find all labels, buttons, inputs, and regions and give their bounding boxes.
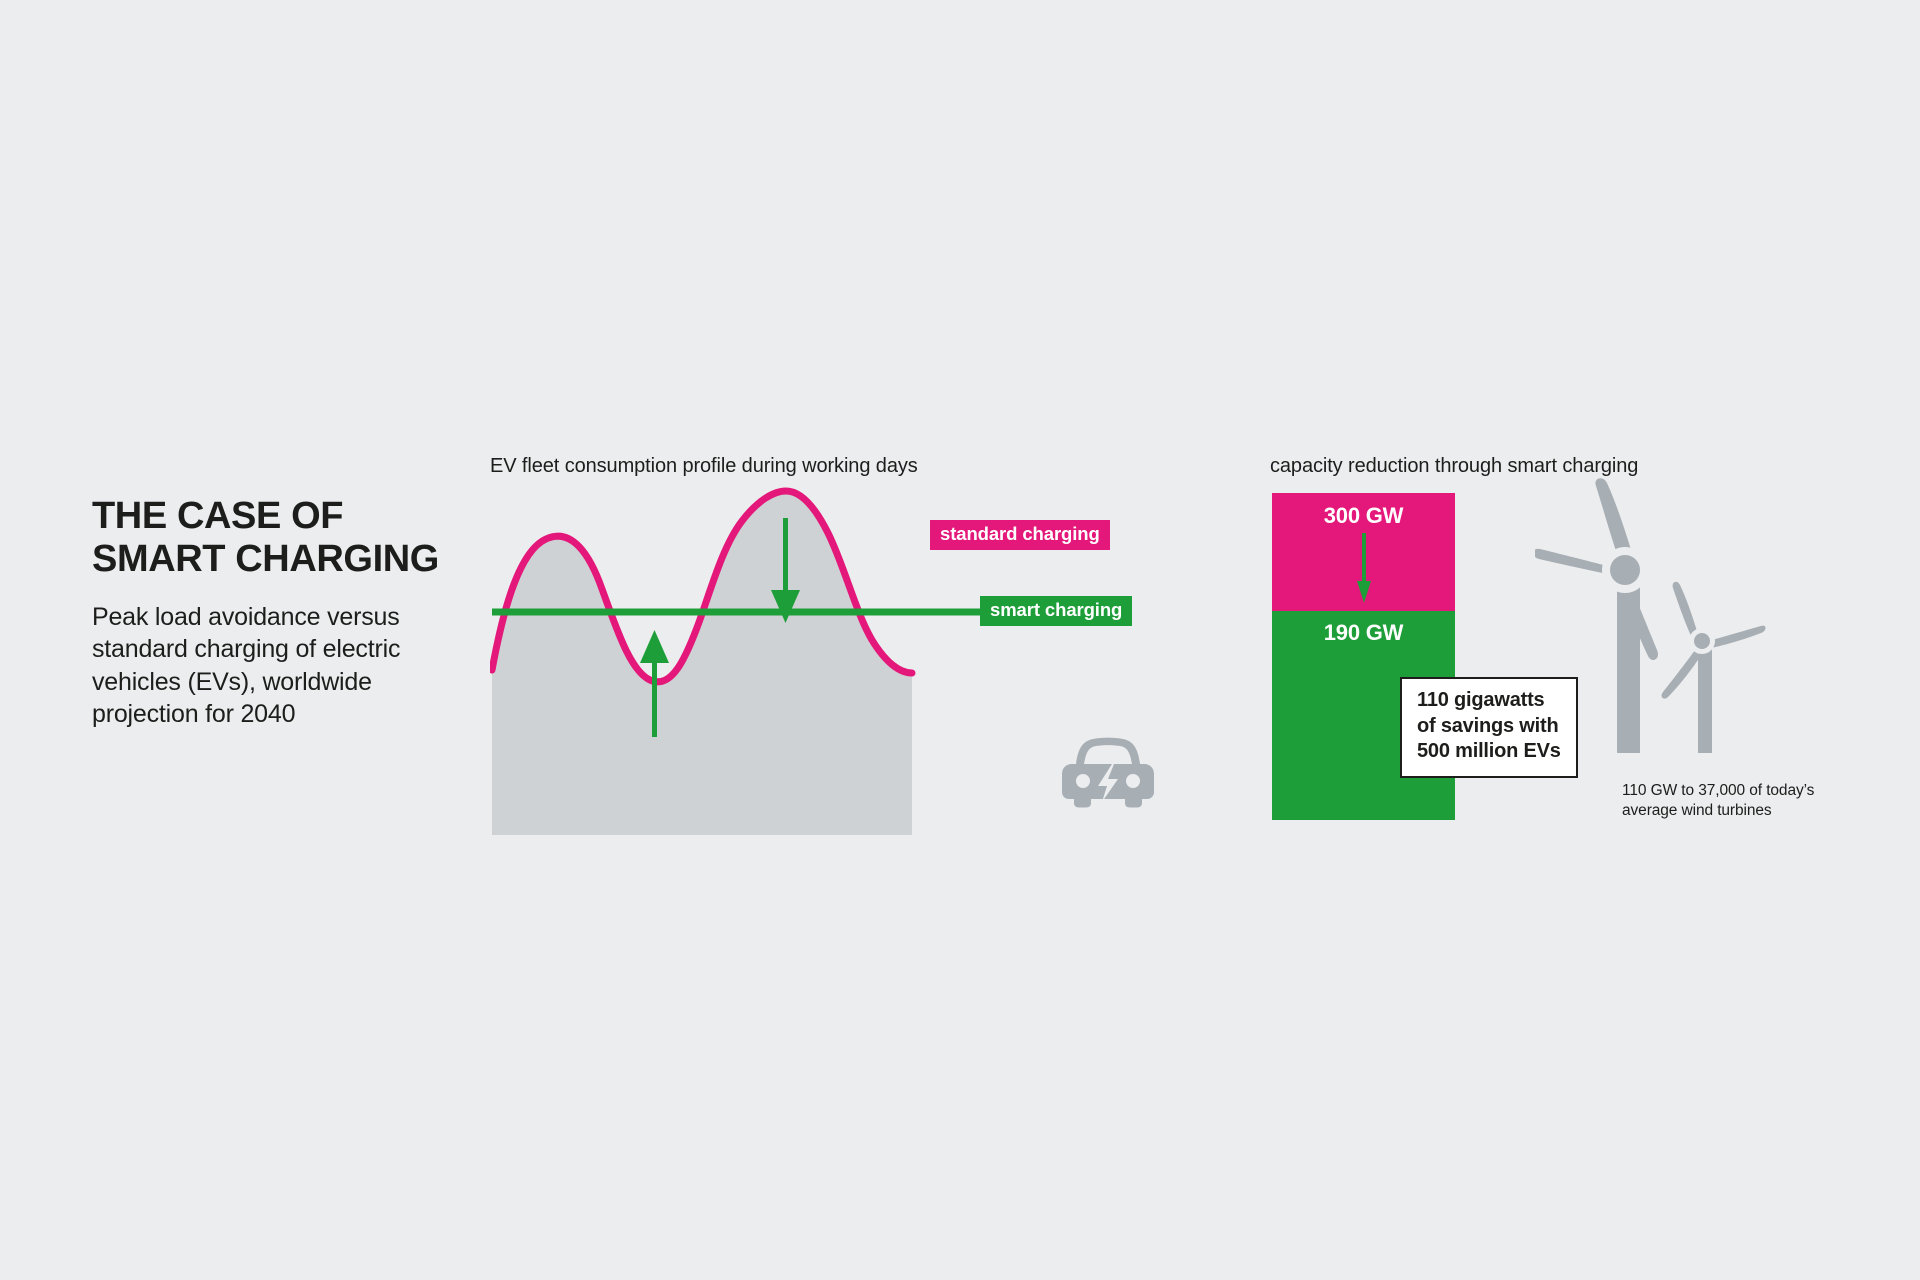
curve-chart-title: EV fleet consumption profile during work… <box>490 455 918 478</box>
subtitle-line-4: projection for 2040 <box>92 698 462 731</box>
turbine-caption-line-1: 110 GW to 37,000 of today’s <box>1622 781 1814 801</box>
page-title: THE CASE OF SMART CHARGING <box>92 495 462 582</box>
turbine-caption-line-2: average wind turbines <box>1622 801 1814 821</box>
car-windshield <box>1084 745 1132 764</box>
title-line-1: THE CASE OF <box>92 495 462 538</box>
car-headlight-left <box>1076 774 1090 788</box>
bar-chart-title: capacity reduction through smart chargin… <box>1270 455 1638 478</box>
capacity-bar-panel: capacity reduction through smart chargin… <box>1270 455 1890 845</box>
electric-car-icon <box>1056 736 1160 808</box>
down-arrow-icon <box>1357 533 1371 605</box>
consumption-area-fill <box>492 491 912 835</box>
curve-chart-panel: EV fleet consumption profile during work… <box>490 455 1170 835</box>
wind-turbine-icon <box>1535 478 1795 768</box>
subtitle-line-1: Peak load avoidance versus <box>92 601 462 634</box>
turbine-caption: 110 GW to 37,000 of today’s average wind… <box>1622 781 1814 822</box>
legend-standard-charging[interactable]: standard charging <box>930 520 1110 550</box>
infographic-canvas: THE CASE OF SMART CHARGING Peak load avo… <box>0 0 1920 1280</box>
bar-label-300gw: 300 GW <box>1272 503 1455 529</box>
page-subtitle: Peak load avoidance versus standard char… <box>92 601 462 731</box>
wind-turbine-small <box>1662 582 1766 753</box>
bar-label-190gw: 190 GW <box>1272 620 1455 646</box>
subtitle-line-3: vehicles (EVs), worldwide <box>92 666 462 699</box>
title-line-2: SMART CHARGING <box>92 538 462 581</box>
heading-block: THE CASE OF SMART CHARGING Peak load avo… <box>92 495 462 731</box>
legend-smart-charging[interactable]: smart charging <box>980 596 1132 626</box>
wind-turbine-large <box>1535 478 1658 753</box>
subtitle-line-2: standard charging of electric <box>92 633 462 666</box>
car-headlight-right <box>1126 774 1140 788</box>
